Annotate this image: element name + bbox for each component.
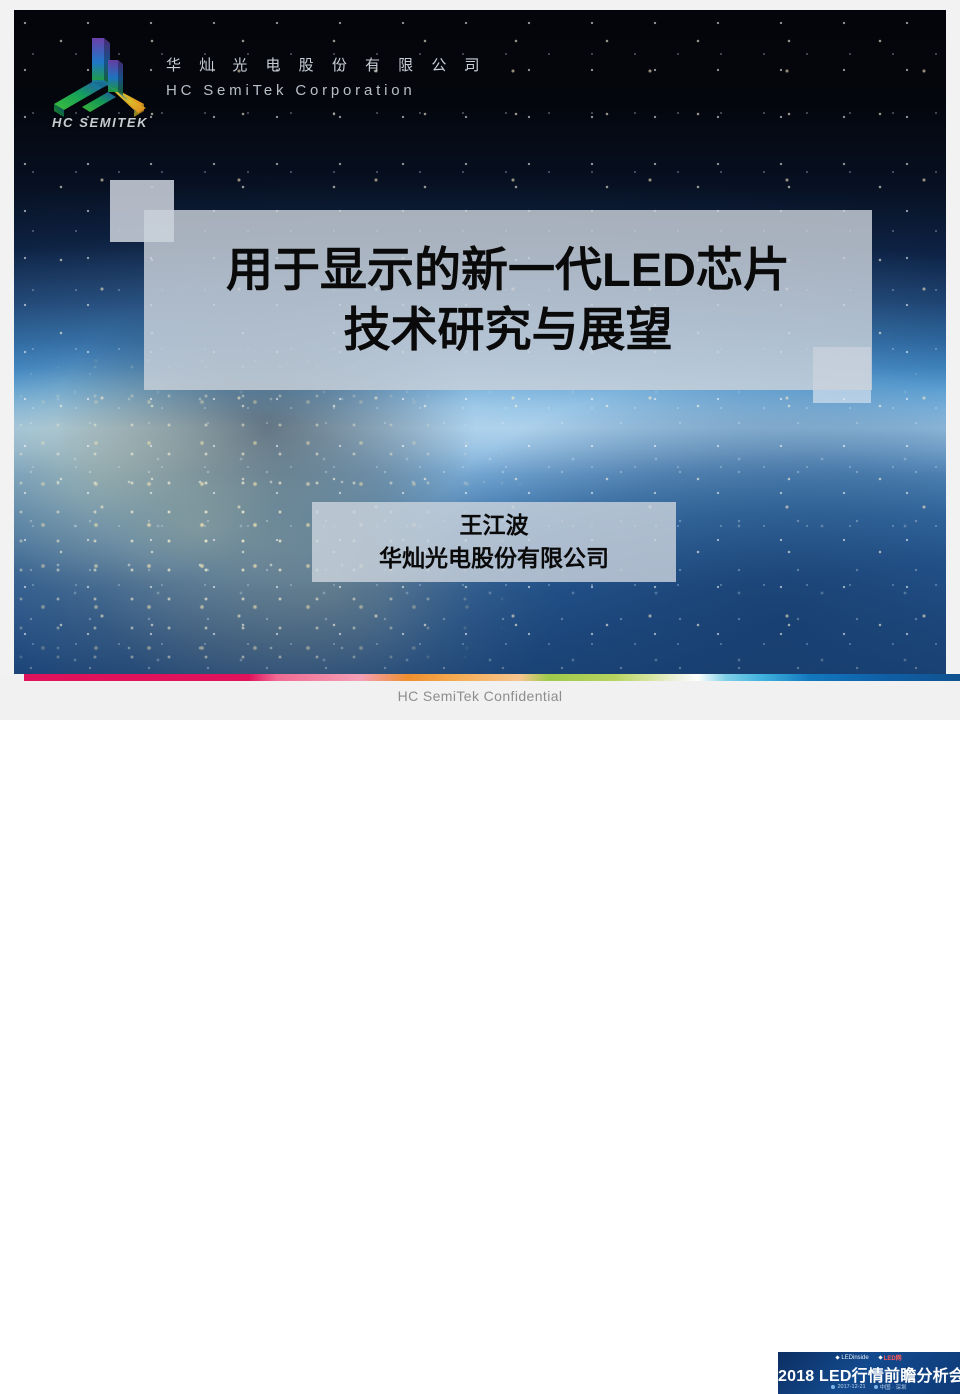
logo-wordmark: HC SEMITEK [52, 115, 148, 130]
presentation-slide: HC SEMITEK 华 灿 光 电 股 份 有 限 公 司 HC SemiTe… [0, 0, 960, 720]
author-company: 华灿光电股份有限公司 [379, 542, 609, 575]
conference-badge: LEDinside LED网 2018 LED行情前瞻分析会 2017-12-2… [778, 1352, 960, 1394]
author-band: 王江波 华灿光电股份有限公司 [312, 502, 676, 582]
diamond-icon [836, 1355, 840, 1359]
badge-sponsor-1-label: LEDinside [841, 1355, 868, 1361]
company-logo-header: HC SEMITEK 华 灿 光 电 股 份 有 限 公 司 HC SemiTe… [46, 34, 487, 128]
calendar-icon [831, 1385, 835, 1389]
badge-meta-date-label: 2017-12-21 [837, 1384, 865, 1390]
slide-title-line-2: 技术研究与展望 [344, 300, 673, 360]
author-name: 王江波 [460, 509, 529, 542]
slide-canvas: HC SEMITEK 华 灿 光 电 股 份 有 限 公 司 HC SemiTe… [14, 10, 946, 674]
badge-meta-row: 2017-12-21 中国 · 深圳 [778, 1383, 960, 1391]
slide-title-line-1: 用于显示的新一代LED芯片 [226, 240, 790, 300]
company-name-chinese: 华 灿 光 电 股 份 有 限 公 司 [166, 55, 487, 76]
diamond-icon [878, 1355, 882, 1359]
badge-sponsor-ledinside: LEDinside [836, 1355, 868, 1361]
badge-sponsor-2-label: LED网 [884, 1353, 902, 1362]
slide-title-band: 用于显示的新一代LED芯片 技术研究与展望 [144, 210, 872, 390]
location-pin-icon [874, 1385, 878, 1389]
badge-sponsor-row: LEDinside LED网 [778, 1353, 960, 1362]
badge-meta-location: 中国 · 深圳 [874, 1383, 907, 1391]
footer-confidential-notice: HC SemiTek Confidential [0, 688, 960, 704]
company-name-block: 华 灿 光 电 股 份 有 限 公 司 HC SemiTek Corporati… [166, 55, 487, 107]
company-name-english: HC SemiTek Corporation [166, 80, 487, 101]
badge-sponsor-lednet: LED网 [879, 1353, 902, 1362]
hc-semitek-tripod-logo-icon: HC SEMITEK [46, 34, 150, 128]
badge-meta-location-label: 中国 · 深圳 [880, 1383, 907, 1391]
footer-color-stripe [24, 674, 960, 681]
badge-meta-date: 2017-12-21 [831, 1384, 865, 1390]
slide-footer: HC SemiTek Confidential LEDinside LED网 2… [0, 674, 960, 720]
